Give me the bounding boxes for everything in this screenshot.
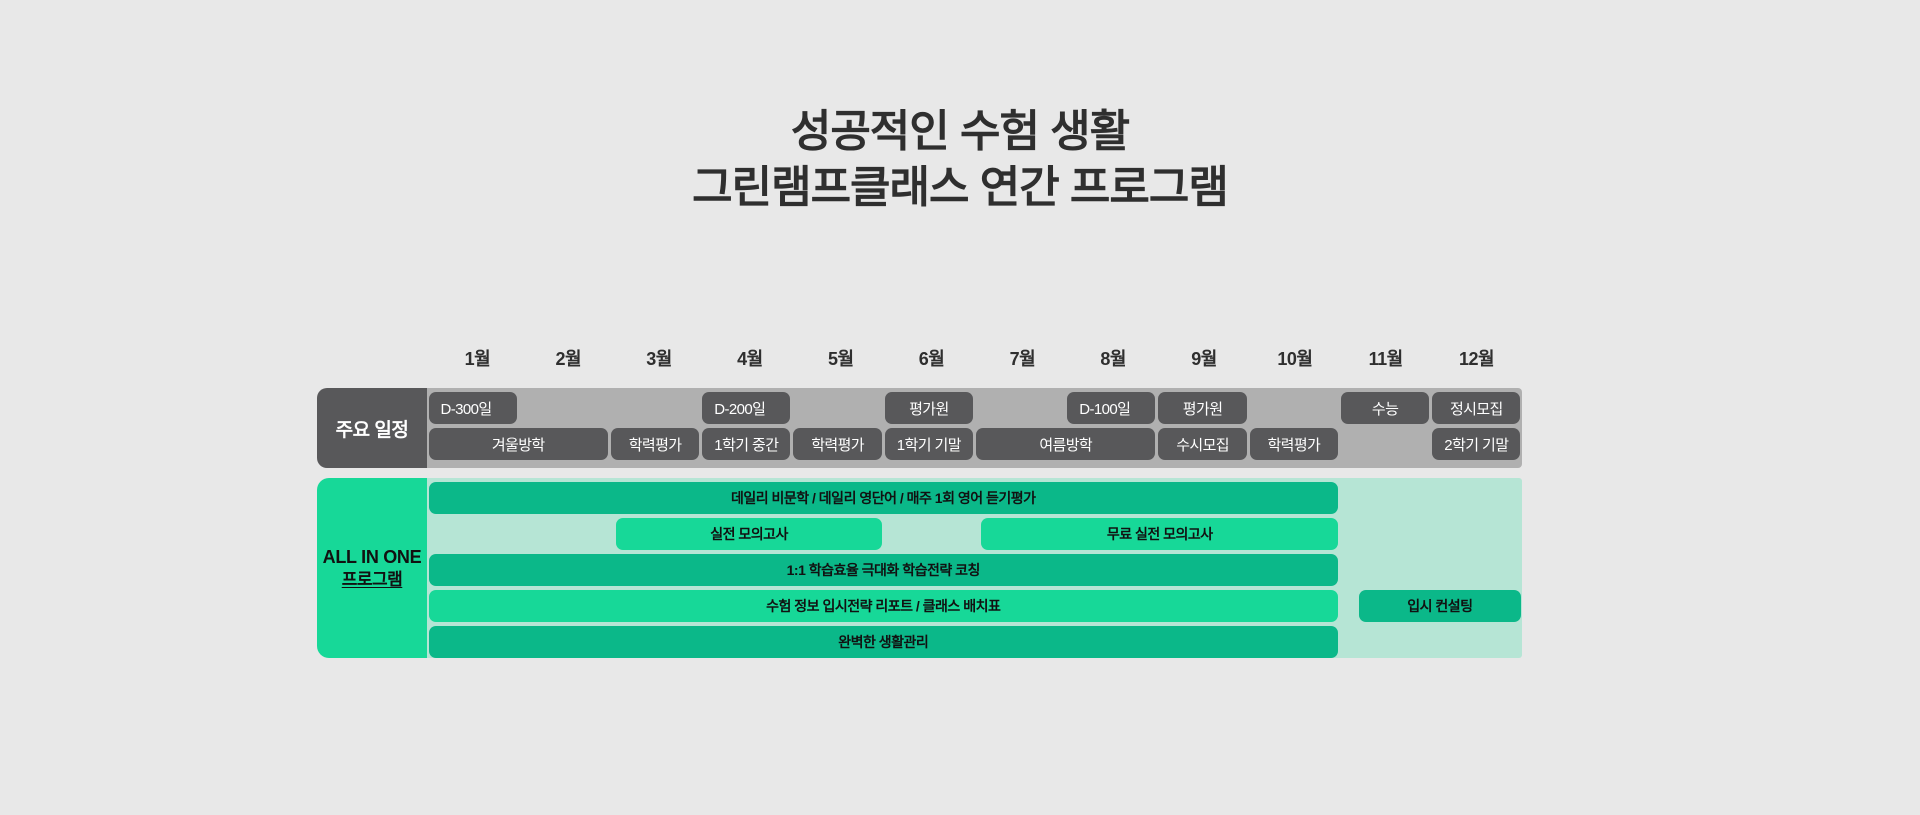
schedule-chip: 학력평가 — [793, 428, 881, 460]
schedule-chip: 평가원 — [885, 392, 973, 424]
program-bar: 입시 컨설팅 — [1359, 590, 1520, 622]
schedule-chip: D-300일 — [429, 392, 517, 424]
month-label: 7월 — [977, 341, 1068, 375]
month-label: 8월 — [1068, 341, 1159, 375]
schedule-track: D-300일D-200일평가원D-100일평가원수능정시모집 겨울방학학력평가1… — [427, 388, 1522, 468]
program-bar: 무료 실전 모의고사 — [981, 518, 1338, 550]
schedule-chip: 정시모집 — [1432, 392, 1520, 424]
poster-canvas: 성공적인 수험 생활 그린램프클래스 연간 프로그램 1월2월3월4월5월6월7… — [0, 0, 1920, 815]
schedule-chip: 1학기 중간 — [702, 428, 790, 460]
schedule-chip: 수능 — [1341, 392, 1429, 424]
program-bar: 실전 모의고사 — [616, 518, 881, 550]
schedule-chip: D-200일 — [702, 392, 790, 424]
program-band: ALL IN ONE 프로그램 데일리 비문학 / 데일리 영단어 / 매주 1… — [317, 478, 1522, 658]
month-label: 10월 — [1249, 341, 1340, 375]
schedule-chip: D-100일 — [1067, 392, 1155, 424]
program-row: 완벽한 생활관리 — [427, 626, 1522, 658]
schedule-chip: 평가원 — [1158, 392, 1246, 424]
title-line-1: 성공적인 수험 생활 — [0, 104, 1920, 160]
program-bar: 데일리 비문학 / 데일리 영단어 / 매주 1회 영어 듣기평가 — [429, 482, 1339, 514]
schedule-band-label: 주요 일정 — [317, 388, 427, 468]
program-band-label-bottom: 프로그램 — [342, 569, 403, 590]
month-label: 6월 — [886, 341, 977, 375]
schedule-chip: 1학기 기말 — [885, 428, 973, 460]
program-band-label-top: ALL IN ONE — [323, 546, 422, 569]
schedule-chip: 학력평가 — [611, 428, 699, 460]
month-label: 4월 — [704, 341, 795, 375]
program-bar: 완벽한 생활관리 — [429, 626, 1339, 658]
schedule-band: 주요 일정 D-300일D-200일평가원D-100일평가원수능정시모집 겨울방… — [317, 388, 1522, 468]
program-row: 실전 모의고사무료 실전 모의고사 — [427, 518, 1522, 550]
month-label: 5월 — [795, 341, 886, 375]
month-label: 12월 — [1431, 341, 1522, 375]
schedule-row-exams: D-300일D-200일평가원D-100일평가원수능정시모집 — [427, 392, 1522, 424]
schedule-chip: 여름방학 — [976, 428, 1155, 460]
program-bar: 1:1 학습효율 극대화 학습전략 코칭 — [429, 554, 1339, 586]
schedule-chip: 수시모집 — [1158, 428, 1246, 460]
month-label: 11월 — [1340, 341, 1431, 375]
schedule-chip: 겨울방학 — [429, 428, 608, 460]
page-title: 성공적인 수험 생활 그린램프클래스 연간 프로그램 — [0, 104, 1920, 217]
month-label: 2월 — [523, 341, 614, 375]
program-bar: 수험 정보 입시전략 리포트 / 클래스 배치표 — [429, 590, 1339, 622]
schedule-chip: 2학기 기말 — [1432, 428, 1520, 460]
schedule-row-terms: 겨울방학학력평가1학기 중간학력평가1학기 기말여름방학수시모집학력평가2학기 … — [427, 428, 1522, 460]
schedule-chip: 학력평가 — [1250, 428, 1338, 460]
month-label: 9월 — [1159, 341, 1250, 375]
program-row: 데일리 비문학 / 데일리 영단어 / 매주 1회 영어 듣기평가 — [427, 482, 1522, 514]
schedule-band-label-text: 주요 일정 — [336, 415, 409, 442]
program-band-label: ALL IN ONE 프로그램 — [317, 478, 427, 658]
program-row: 수험 정보 입시전략 리포트 / 클래스 배치표입시 컨설팅 — [427, 590, 1522, 622]
month-label: 1월 — [432, 341, 523, 375]
title-line-2: 그린램프클래스 연간 프로그램 — [0, 160, 1920, 216]
month-label: 3월 — [614, 341, 705, 375]
month-header-row: 1월2월3월4월5월6월7월8월9월10월11월12월 — [432, 341, 1522, 375]
program-track: 데일리 비문학 / 데일리 영단어 / 매주 1회 영어 듣기평가실전 모의고사… — [427, 478, 1522, 658]
program-row: 1:1 학습효율 극대화 학습전략 코칭 — [427, 554, 1522, 586]
